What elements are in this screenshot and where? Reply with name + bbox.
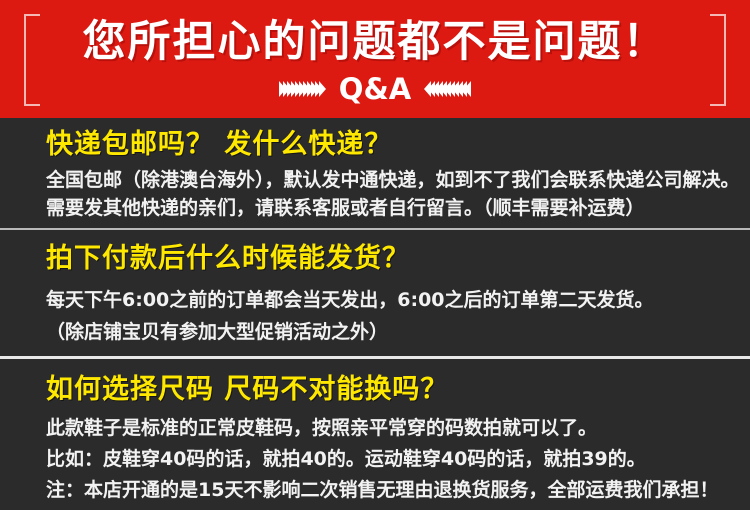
- chevron-right-group-icon: [279, 79, 323, 99]
- faq-answer-line: 比如：皮鞋穿40码的话，就拍40的。运动鞋穿40码的话，就拍39的。: [46, 444, 750, 475]
- faq-section-1: 快递包邮吗？ 发什么快递？ 全国包邮（除港澳台海外），默认发中通快递，如到不了我…: [0, 118, 750, 228]
- faq-answer-line: 需要发其他快递的亲们，请联系客服或者自行留言。（顺丰需要补运费）: [46, 194, 750, 222]
- page-title: 您所担心的问题都不是问题！: [0, 14, 750, 70]
- faq-question-3: 如何选择尺码 尺码不对能换吗？: [46, 371, 750, 409]
- chevron-left-group-icon: [427, 79, 471, 99]
- faq-answer-line: 每天下午6:00之前的订单都会当天发出，6:00之后的订单第二天发货。: [46, 284, 750, 316]
- faq-question-1: 快递包邮吗？ 发什么快递？: [46, 126, 750, 164]
- faq-section-2: 拍下付款后什么时候能发货？ 每天下午6:00之前的订单都会当天发出，6:00之后…: [0, 230, 750, 356]
- faq-section-3: 如何选择尺码 尺码不对能换吗？ 此款鞋子是标准的正常皮鞋码，按照亲平常穿的码数拍…: [0, 359, 750, 510]
- qa-subtitle-row: Q&A: [0, 74, 750, 104]
- faq-question-2: 拍下付款后什么时候能发货？: [46, 240, 750, 278]
- faq-body: 快递包邮吗？ 发什么快递？ 全国包邮（除港澳台海外），默认发中通快递，如到不了我…: [0, 118, 750, 510]
- qa-label: Q&A: [333, 74, 417, 104]
- faq-answer-line: 此款鞋子是标准的正常皮鞋码，按照亲平常穿的码数拍就可以了。: [46, 413, 750, 444]
- chevron-right-icon: [319, 81, 326, 97]
- chevron-left-icon: [464, 81, 471, 97]
- faq-answer-line: （除店铺宝贝有参加大型促销活动之外）: [46, 316, 750, 348]
- faq-banner: 您所担心的问题都不是问题！ Q&A 快递包邮吗？ 发什么快递？ 全国包邮（除港澳…: [0, 0, 750, 476]
- faq-answer-line: 全国包邮（除港澳台海外），默认发中通快递，如到不了我们会联系快递公司解决。: [46, 166, 750, 194]
- banner-header: 您所担心的问题都不是问题！ Q&A: [0, 0, 750, 118]
- faq-answer-line: 注：本店开通的是15天不影响二次销售无理由退换货服务，全部运费我们承担！: [46, 475, 750, 506]
